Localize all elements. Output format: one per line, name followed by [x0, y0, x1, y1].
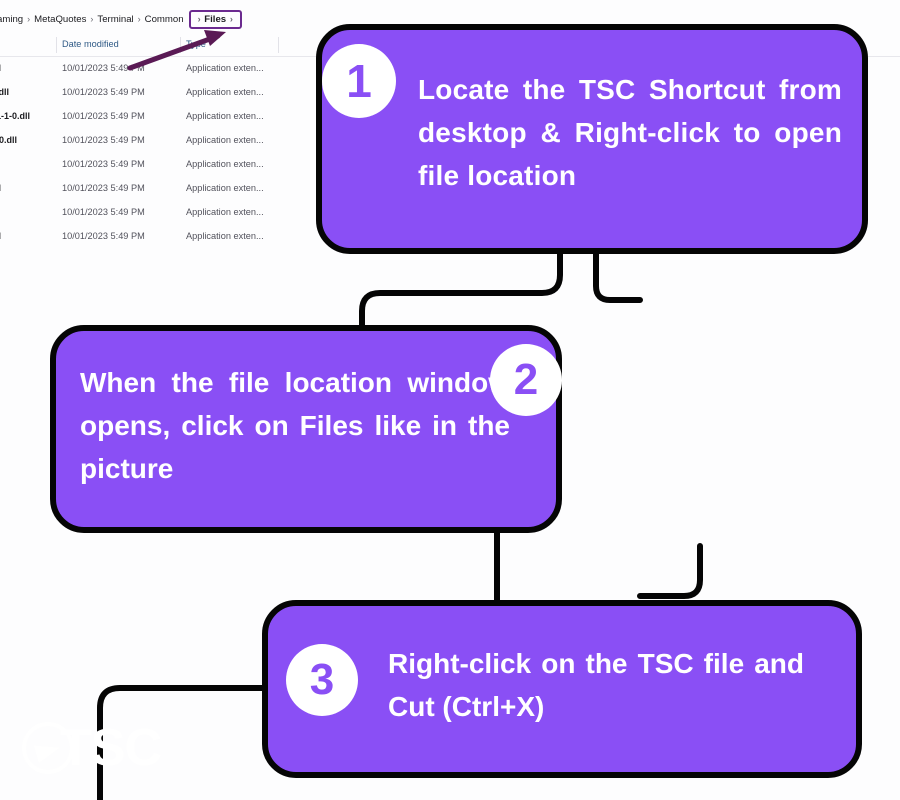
tsc-logo-text: TSC — [60, 722, 161, 774]
infographic-stage: Locate the TSC Shortcut from desktop & R… — [0, 0, 900, 800]
step-2-card: When the file location window opens, cli… — [50, 325, 562, 533]
step-3-text: Right-click on the TSC file and Cut (Ctr… — [388, 642, 804, 728]
step-2-badge: 2 — [490, 344, 562, 416]
tsc-logo-mark-icon — [22, 722, 74, 774]
step-2-text: When the file location window opens, cli… — [80, 361, 510, 490]
step-1-text: Locate the TSC Shortcut from desktop & R… — [418, 68, 842, 197]
step-1-card: Locate the TSC Shortcut from desktop & R… — [316, 24, 868, 254]
step-3-badge: 3 — [286, 644, 358, 716]
tsc-logo: TSC — [22, 722, 161, 774]
step-1-badge: 1 — [322, 44, 396, 118]
